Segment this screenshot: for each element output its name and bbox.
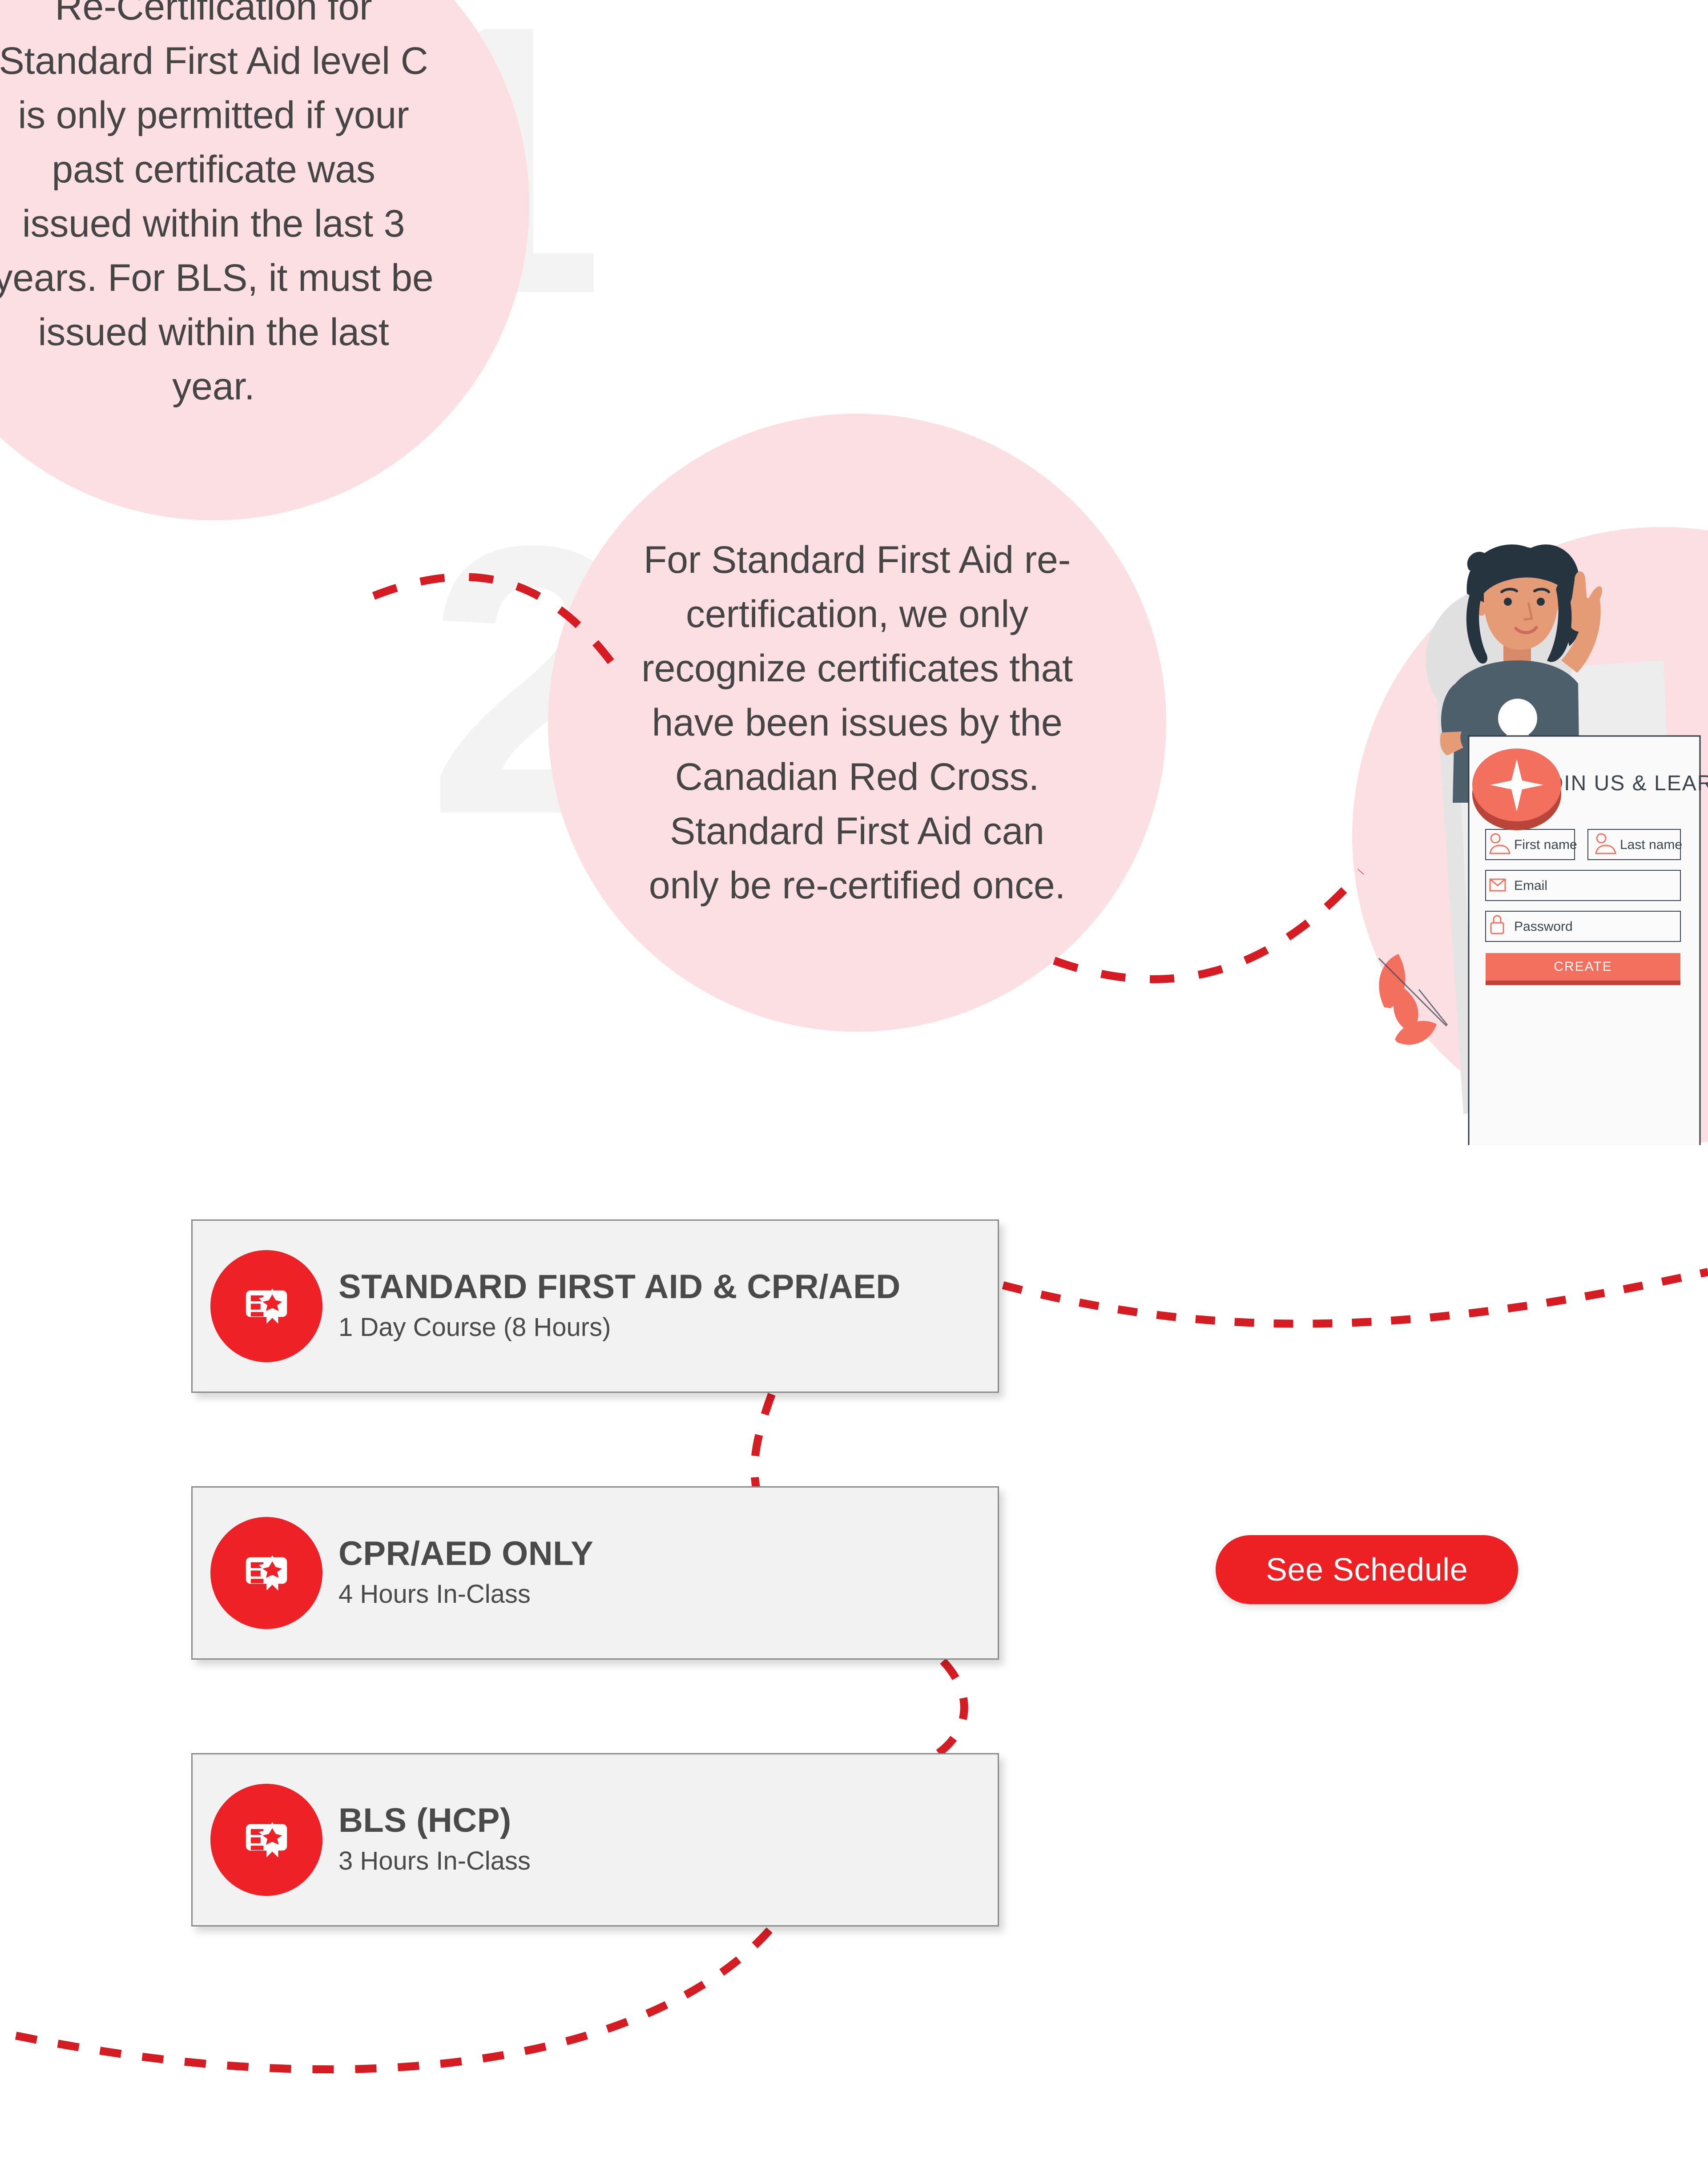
certificate-icon bbox=[210, 1784, 322, 1896]
info-bubble-2-text: For Standard First Aid re-certification,… bbox=[635, 533, 1080, 913]
certificate-icon bbox=[210, 1250, 322, 1362]
page-canvas: 1 2 Re-Certification for Standard First … bbox=[0, 0, 1708, 2164]
info-bubble-1: Re-Certification for Standard First Aid … bbox=[0, 0, 529, 520]
course-card-body: CPR/AED ONLY 4 Hours In-Class bbox=[338, 1536, 593, 1611]
signup-illustration: JOIN US & LEARN First name Last name Ema… bbox=[1352, 527, 1708, 1145]
course-title: STANDARD FIRST AID & CPR/AED bbox=[338, 1269, 901, 1305]
course-subtitle: 1 Day Course (8 Hours) bbox=[338, 1311, 901, 1344]
add-user-badge bbox=[1472, 748, 1561, 830]
password-placeholder: Password bbox=[1514, 919, 1573, 934]
leaf-decoration bbox=[1379, 954, 1447, 1045]
course-card[interactable]: BLS (HCP) 3 Hours In-Class bbox=[191, 1753, 999, 1927]
last-name-placeholder: Last name bbox=[1620, 837, 1682, 852]
course-card-body: BLS (HCP) 3 Hours In-Class bbox=[338, 1802, 531, 1878]
certificate-icon bbox=[210, 1517, 322, 1629]
course-card[interactable]: CPR/AED ONLY 4 Hours In-Class bbox=[191, 1486, 999, 1660]
course-subtitle: 3 Hours In-Class bbox=[338, 1845, 531, 1878]
course-card[interactable]: STANDARD FIRST AID & CPR/AED 1 Day Cours… bbox=[191, 1219, 999, 1393]
dotted-path-card3-bottom bbox=[0, 1930, 769, 2069]
course-title: BLS (HCP) bbox=[338, 1802, 531, 1839]
course-title: CPR/AED ONLY bbox=[338, 1536, 593, 1572]
dotted-path-card1-right bbox=[1003, 1272, 1708, 1324]
info-bubble-2: For Standard First Aid re-certification,… bbox=[548, 414, 1166, 1032]
dotted-path-card1-card2 bbox=[754, 1394, 772, 1488]
create-button-label: CREATE bbox=[1554, 959, 1612, 974]
course-card-body: STANDARD FIRST AID & CPR/AED 1 Day Cours… bbox=[338, 1269, 901, 1344]
email-placeholder: Email bbox=[1514, 878, 1547, 893]
first-name-placeholder: First name bbox=[1514, 837, 1577, 852]
see-schedule-button[interactable]: See Schedule bbox=[1216, 1535, 1518, 1604]
dotted-path-card2-card3 bbox=[939, 1661, 964, 1753]
info-bubble-1-text: Re-Certification for Standard First Aid … bbox=[0, 0, 434, 414]
course-subtitle: 4 Hours In-Class bbox=[338, 1578, 593, 1611]
